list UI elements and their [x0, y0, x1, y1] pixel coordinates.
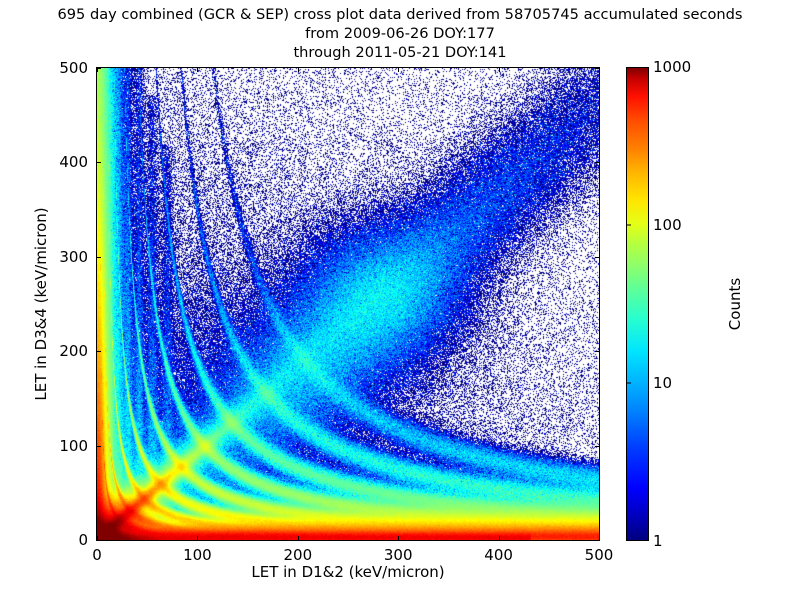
y-tick-mark-right — [595, 540, 599, 541]
y-tick-label: 300 — [59, 248, 88, 266]
x-tick-mark — [197, 536, 198, 540]
y-tick-mark — [97, 68, 101, 69]
y-tick-mark-right — [595, 257, 599, 258]
y-tick-mark — [97, 162, 101, 163]
y-tick-mark — [97, 446, 101, 447]
y-tick-label: 100 — [59, 437, 88, 455]
x-tick-label: 200 — [283, 546, 312, 564]
colorbar-tick-label: 1000 — [653, 58, 691, 76]
x-tick-label: 500 — [585, 546, 614, 564]
y-tick-mark — [97, 540, 101, 541]
y-tick-label: 0 — [78, 531, 88, 549]
y-tick-mark — [97, 351, 101, 352]
colorbar-tick-label: 10 — [653, 374, 672, 392]
y-tick-mark-right — [595, 162, 599, 163]
x-tick-label: 300 — [384, 546, 413, 564]
colorbar-tick-mark — [626, 383, 631, 384]
x-tick-label: 400 — [484, 546, 513, 564]
y-tick-mark — [97, 257, 101, 258]
chart-title: 695 day combined (GCR & SEP) cross plot … — [0, 5, 800, 62]
y-tick-label: 400 — [59, 153, 88, 171]
y-tick-label: 200 — [59, 342, 88, 360]
density-heatmap — [97, 68, 599, 540]
colorbar-tick-label: 100 — [653, 216, 682, 234]
x-tick-label: 0 — [92, 546, 102, 564]
plot-axes — [96, 67, 600, 541]
x-tick-label: 100 — [183, 546, 212, 564]
x-tick-mark — [398, 536, 399, 540]
title-line-1: 695 day combined (GCR & SEP) cross plot … — [0, 5, 800, 24]
y-tick-mark-right — [595, 351, 599, 352]
x-tick-mark — [599, 536, 600, 540]
x-tick-mark-top — [197, 68, 198, 72]
colorbar-tick-label: 1 — [653, 532, 663, 550]
y-tick-mark-right — [595, 68, 599, 69]
y-axis-label: LET in D3&4 (keV/micron) — [32, 67, 50, 541]
colorbar-tick-mark — [626, 225, 631, 226]
y-tick-label: 500 — [59, 59, 88, 77]
x-tick-mark — [298, 536, 299, 540]
y-tick-mark-right — [595, 446, 599, 447]
x-tick-mark-top — [298, 68, 299, 72]
title-line-2: from 2009-06-26 DOY:177 — [0, 24, 800, 43]
x-tick-mark-top — [599, 68, 600, 72]
x-axis-label: LET in D1&2 (keV/micron) — [96, 563, 600, 581]
figure-canvas: 695 day combined (GCR & SEP) cross plot … — [0, 0, 800, 600]
colorbar-label: Counts — [726, 67, 744, 541]
x-tick-mark-top — [398, 68, 399, 72]
x-tick-mark-top — [499, 68, 500, 72]
x-tick-mark — [499, 536, 500, 540]
colorbar — [626, 67, 649, 541]
